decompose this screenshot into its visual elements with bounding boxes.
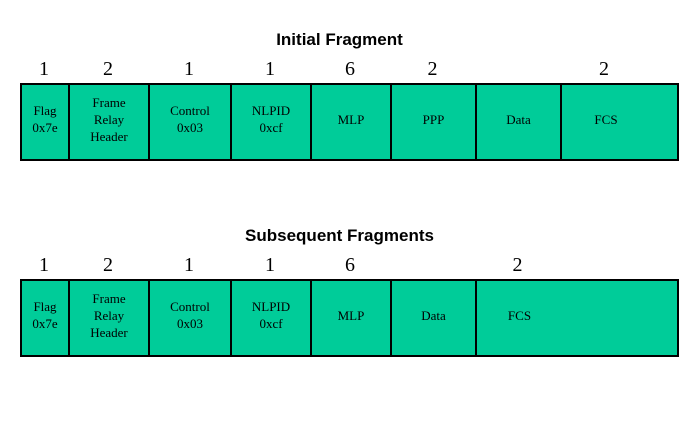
frame-field-label: Control [170, 102, 210, 119]
frame-field-label: NLPID [252, 102, 290, 119]
byte-size-row-initial: 1211622 [20, 50, 679, 80]
frame-field-label: Data [506, 111, 531, 128]
frame-field-label: Data [421, 307, 446, 324]
frame-field-label: 0xcf [259, 315, 282, 332]
frame-field-label: 0xcf [259, 119, 282, 136]
frame-field-cell: Control0x03 [150, 85, 232, 159]
frame-field-label: Header [90, 128, 128, 145]
frame-field-cell: Data [392, 281, 477, 355]
byte-size-label: 1 [148, 254, 230, 276]
frame-field-label: Control [170, 298, 210, 315]
frame-field-label: Header [90, 324, 128, 341]
byte-size-label: 1 [20, 254, 68, 276]
byte-size-label: 1 [148, 58, 230, 80]
frame-field-cell: PPP [392, 85, 477, 159]
frame-field-cell: Control0x03 [150, 281, 232, 355]
frame-field-label: MLP [338, 111, 365, 128]
frame-field-cell: FrameRelayHeader [70, 85, 150, 159]
diagram-canvas: Initial Fragment 1211622 Flag0x7eFrameRe… [0, 0, 679, 423]
frame-field-cell: Data [477, 85, 562, 159]
frame-field-label: Relay [94, 307, 124, 324]
byte-size-row-subsequent: 121162 [20, 246, 679, 276]
byte-size-label: 2 [390, 58, 475, 80]
byte-size-label: 2 [68, 58, 148, 80]
frame-field-label: Relay [94, 111, 124, 128]
frame-field-cell: Flag0x7e [22, 281, 70, 355]
frame-field-label: 0x03 [177, 315, 203, 332]
frame-field-label: MLP [338, 307, 365, 324]
frame-field-cell: MLP [312, 281, 392, 355]
frame-field-row-subsequent: Flag0x7eFrameRelayHeaderControl0x03NLPID… [20, 279, 679, 357]
byte-size-label: 1 [230, 254, 310, 276]
frame-field-cell: MLP [312, 85, 392, 159]
frame-wrapper-initial: 1211622 Flag0x7eFrameRelayHeaderControl0… [20, 50, 679, 161]
frame-field-label: 0x03 [177, 119, 203, 136]
frame-field-cell: FCS [477, 281, 562, 355]
frame-wrapper-subsequent: 121162 Flag0x7eFrameRelayHeaderControl0x… [20, 246, 679, 357]
frame-field-cell: NLPID0xcf [232, 85, 312, 159]
byte-size-label: 2 [68, 254, 148, 276]
byte-size-label: 6 [310, 254, 390, 276]
byte-size-label: 2 [560, 58, 648, 80]
frame-field-cell: Flag0x7e [22, 85, 70, 159]
frame-field-label: Flag [33, 298, 56, 315]
frame-field-cell: FrameRelayHeader [70, 281, 150, 355]
byte-size-label: 2 [475, 254, 560, 276]
diagram-title-subsequent: Subsequent Fragments [0, 226, 679, 246]
frame-field-cell: NLPID0xcf [232, 281, 312, 355]
frame-field-label: 0x7e [32, 315, 57, 332]
frame-field-label: 0x7e [32, 119, 57, 136]
frame-field-label: FCS [594, 111, 617, 128]
byte-size-label: 6 [310, 58, 390, 80]
frame-diagram-initial: Initial Fragment 1211622 Flag0x7eFrameRe… [0, 30, 679, 161]
frame-field-label: NLPID [252, 298, 290, 315]
byte-size-label: 1 [230, 58, 310, 80]
frame-field-label: FCS [508, 307, 531, 324]
frame-field-label: Frame [92, 94, 125, 111]
byte-size-label: 1 [20, 58, 68, 80]
frame-field-cell: FCS [562, 85, 650, 159]
frame-field-label: PPP [423, 111, 445, 128]
frame-diagram-subsequent: Subsequent Fragments 121162 Flag0x7eFram… [0, 226, 679, 357]
diagram-title-initial: Initial Fragment [0, 30, 679, 50]
frame-field-label: Frame [92, 290, 125, 307]
frame-field-row-initial: Flag0x7eFrameRelayHeaderControl0x03NLPID… [20, 83, 679, 161]
frame-field-label: Flag [33, 102, 56, 119]
